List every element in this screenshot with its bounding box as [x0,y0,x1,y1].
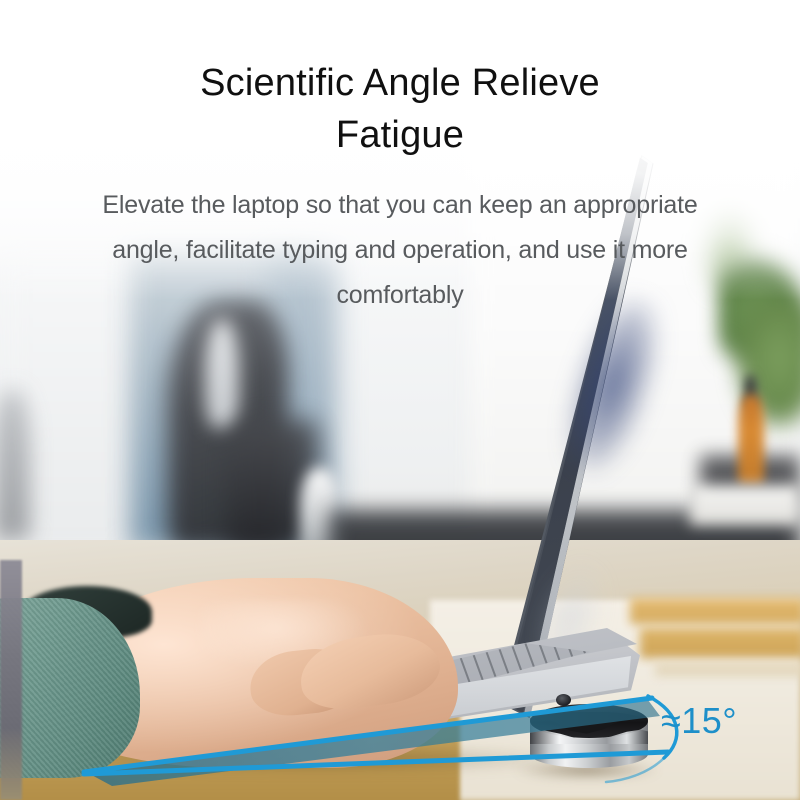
wooden-board-mid [640,628,800,658]
background-left-object [0,390,30,540]
background-chair-highlight [205,318,239,428]
description-line-2: angle, facilitate typing and operation, … [70,228,730,273]
product-feature-banner: ≈15° Scientific Angle Relieve Fatigue El… [0,0,800,800]
headline-line-2: Fatigue [0,109,800,161]
laptop-stand [524,700,654,776]
description-line-1: Elevate the laptop so that you can keep … [70,183,730,228]
description-line-3: comfortably [70,273,730,318]
wooden-board-upper [630,598,800,624]
headline-line-1: Scientific Angle Relieve [200,62,600,104]
background-shelf-ledge [690,485,800,525]
bottle-icon [738,395,764,485]
angle-value-label: ≈15° [661,703,737,739]
photo-left-edge-strip [0,560,22,800]
wooden-board-lower [655,662,800,676]
page-title: Scientific Angle Relieve Fatigue [0,57,800,161]
page-description: Elevate the laptop so that you can keep … [70,183,730,318]
